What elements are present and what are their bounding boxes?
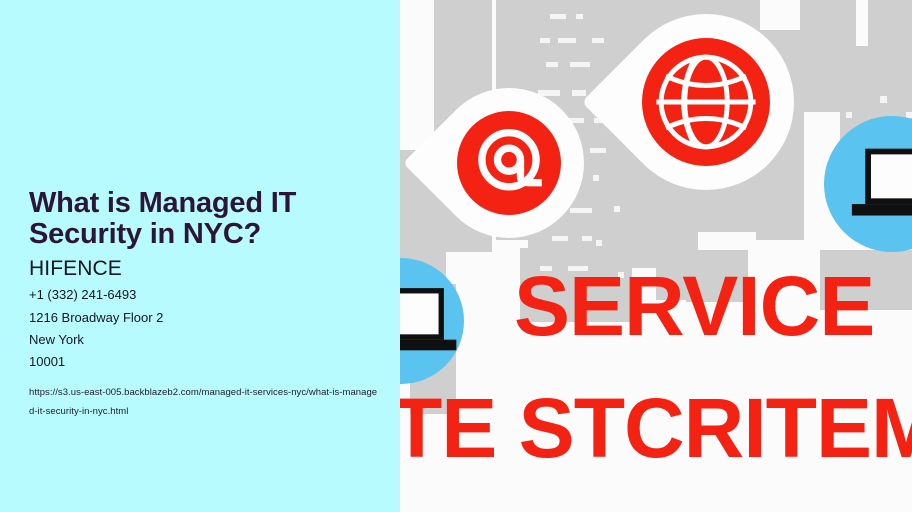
info-panel: What is Managed IT Security in NYC? HIFE… <box>0 0 400 512</box>
screenshot-root: What is Managed IT Security in NYC? HIFE… <box>0 0 912 512</box>
at-sign-icon <box>468 122 550 204</box>
info-stack: What is Managed IT Security in NYC? HIFE… <box>29 188 381 422</box>
contact-postal-code: 10001 <box>29 351 381 373</box>
at-sign-map-pin <box>403 57 615 269</box>
at-sign-disc <box>457 111 561 215</box>
source-url-link[interactable]: https://s3.us-east-005.backblazeb2.com/m… <box>29 383 379 422</box>
contact-city: New York <box>29 329 381 351</box>
globe-icon <box>647 43 765 161</box>
artwork-headline-line-2: TE STCRITEM <box>400 386 912 470</box>
contact-address-line1: 1216 Broadway Floor 2 <box>29 307 381 329</box>
page-title: What is Managed IT Security in NYC? <box>29 188 329 250</box>
brand-name: HIFENCE <box>29 256 381 282</box>
building-shape <box>868 0 912 56</box>
laptop-icon <box>400 281 464 361</box>
artwork-headline-line-1: SERVICE <box>514 264 874 348</box>
laptop-icon <box>844 141 912 227</box>
globe-disc <box>642 38 770 166</box>
contact-phone[interactable]: +1 (332) 241-6493 <box>29 284 381 306</box>
artwork-panel: SERVICE TE STCRITEM <box>400 0 912 512</box>
